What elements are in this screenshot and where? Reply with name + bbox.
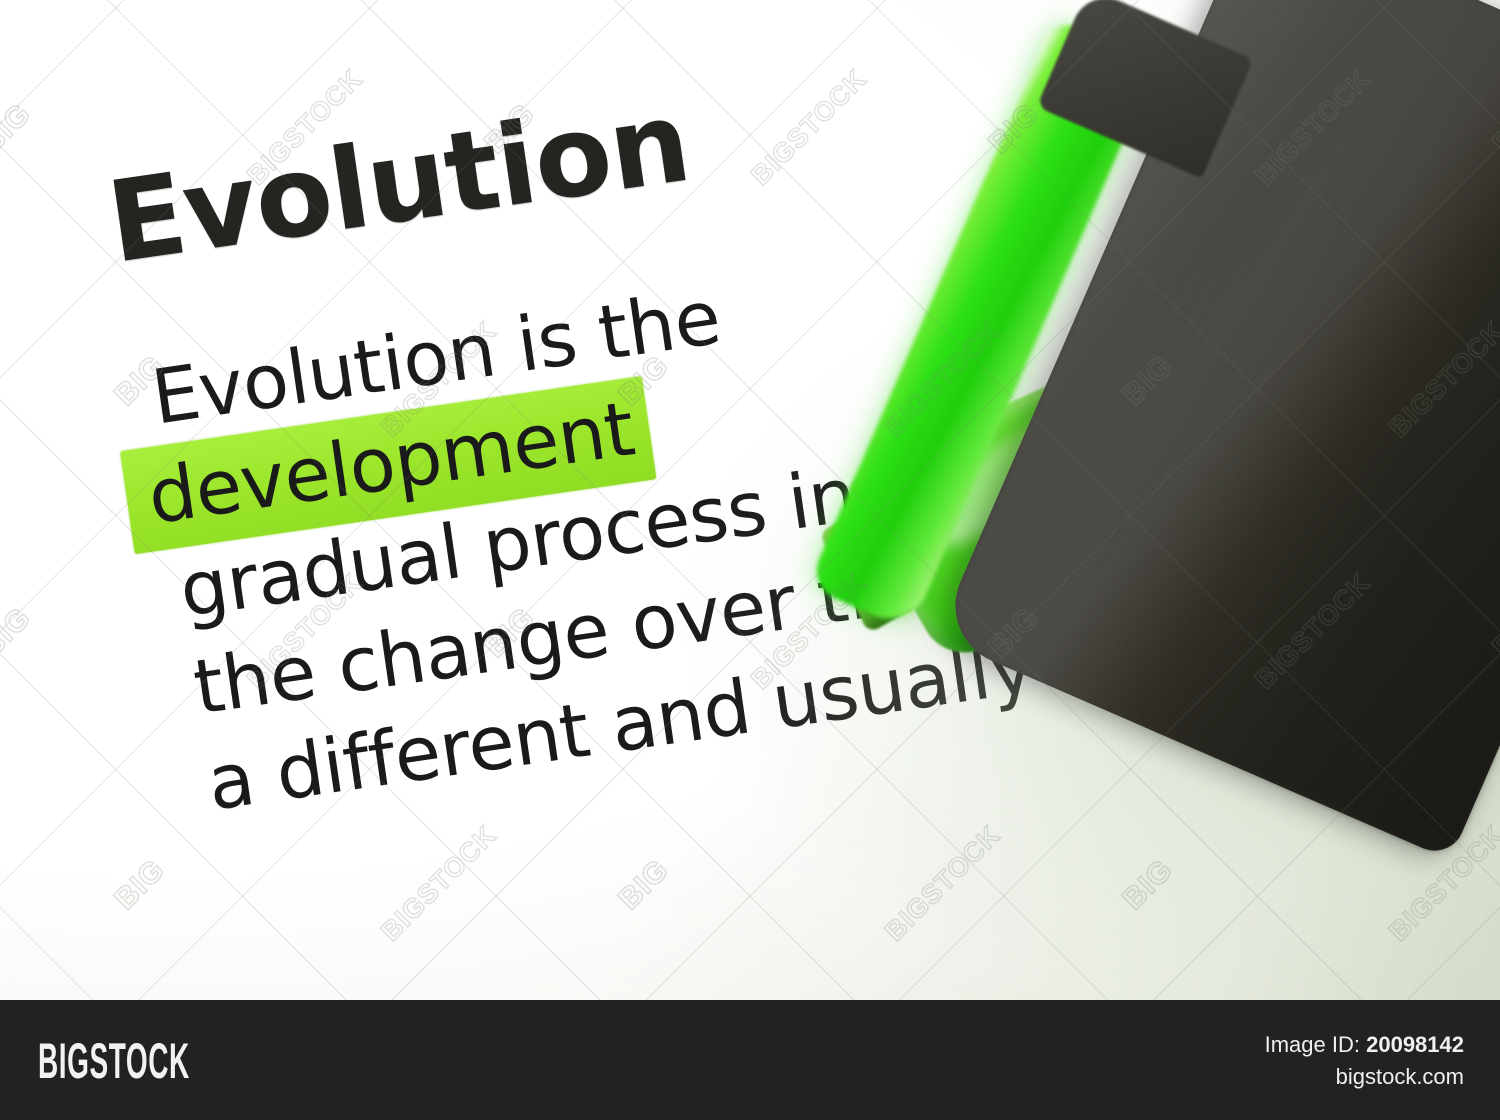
site-url: bigstock.com — [1265, 1060, 1464, 1093]
image-id-label: Image ID: — [1265, 1032, 1360, 1057]
bigstock-logo: BIGSTOCK — [38, 1036, 190, 1086]
watermark-big: BIG — [0, 97, 38, 161]
paper-background: Evolution Evolution is the development g… — [0, 0, 1500, 1000]
screenshot-stage: Evolution Evolution is the development g… — [0, 0, 1500, 1120]
watermark-bigstock: BIGSTOCK — [1383, 820, 1500, 948]
watermark-bigstock: BIGSTOCK — [879, 820, 1007, 948]
watermark-big: BIG — [108, 853, 172, 917]
image-id-row: Image ID: 20098142 — [1265, 1030, 1464, 1060]
watermark-big: BIG — [612, 853, 676, 917]
watermark-big: BIG — [1116, 853, 1180, 917]
footer-meta: Image ID: 20098142 bigstock.com — [1265, 1030, 1464, 1093]
image-id-value: 20098142 — [1366, 1032, 1464, 1057]
footer-bar: BIGSTOCK Image ID: 20098142 bigstock.com — [0, 1000, 1500, 1120]
dictionary-text-block: Evolution Evolution is the development g… — [60, 0, 1500, 842]
watermark-big: BIG — [0, 601, 38, 665]
watermark-bigstock: BIGSTOCK — [375, 820, 503, 948]
